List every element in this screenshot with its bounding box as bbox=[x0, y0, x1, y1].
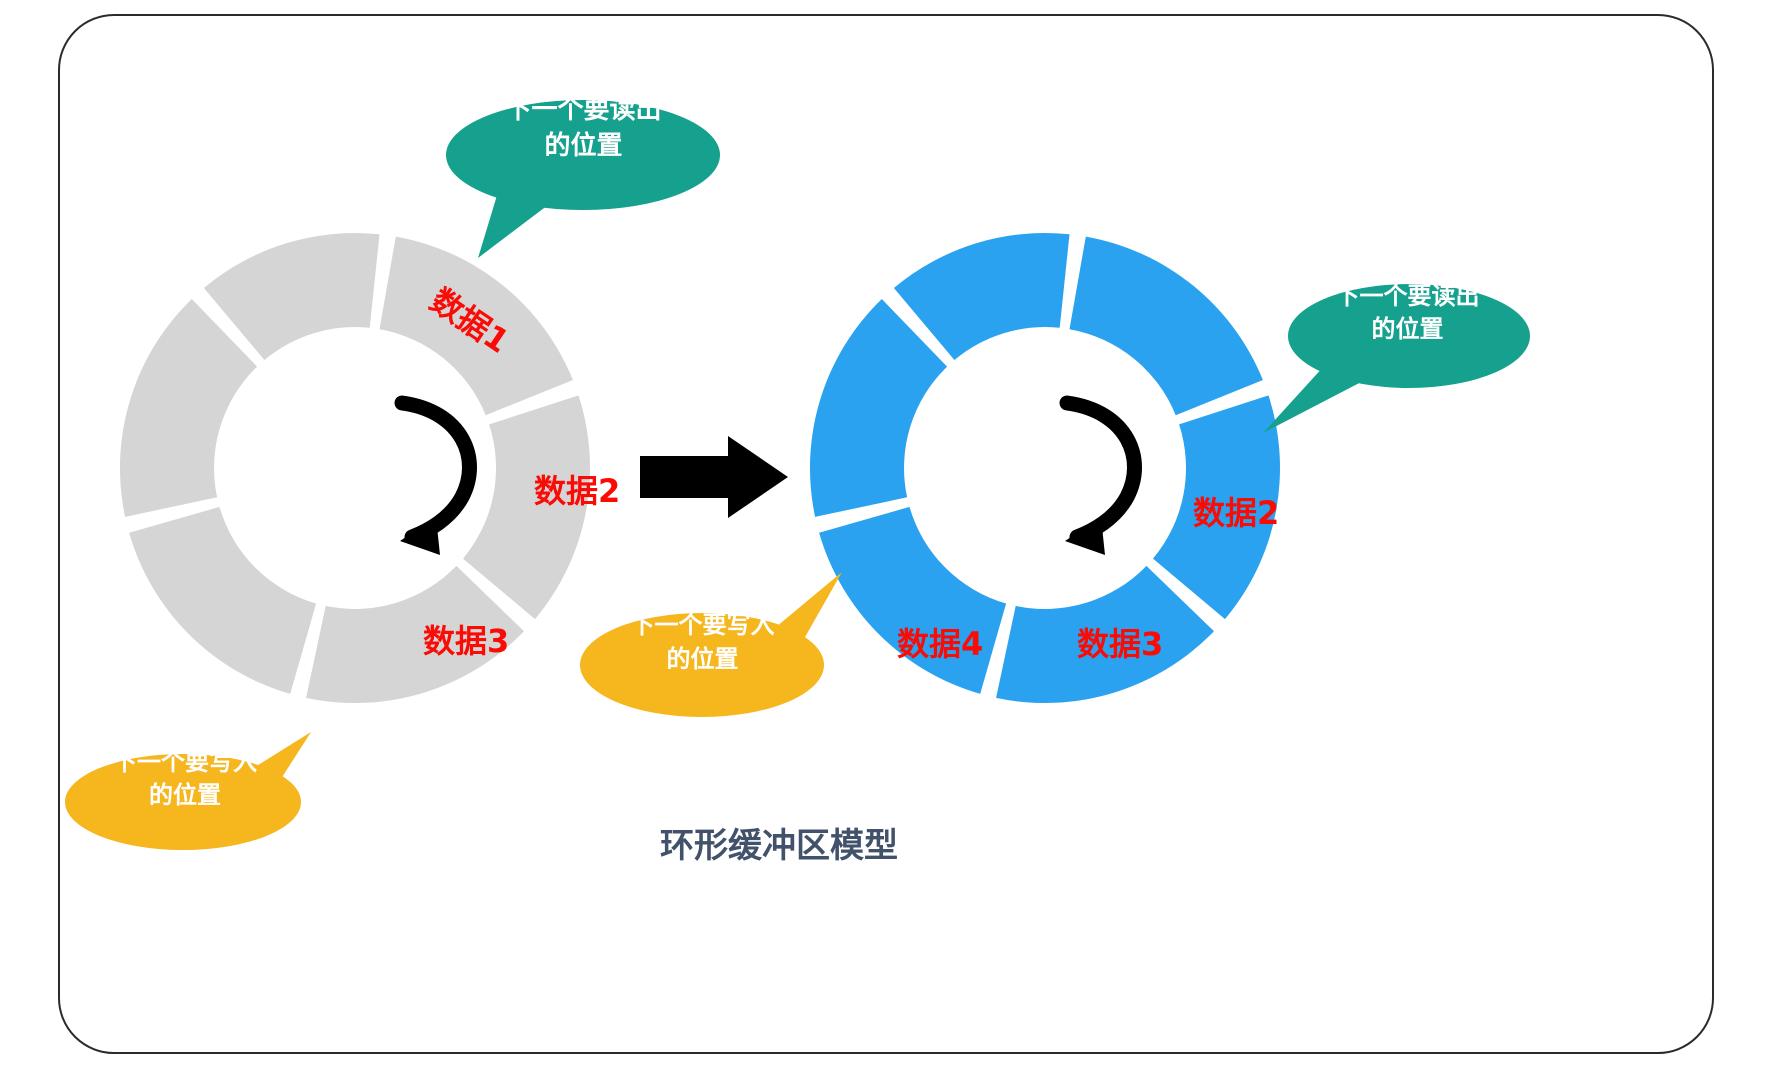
callout-line-2: 的位置 bbox=[113, 779, 257, 812]
left-ring-segment-4 bbox=[129, 507, 316, 694]
next-write-position-callout-left[interactable]: 下一个要写入 的位置 bbox=[65, 730, 305, 830]
callout-line-2: 的位置 bbox=[505, 129, 661, 165]
diagram-title: 环形缓冲区模型 bbox=[660, 818, 898, 867]
next-write-position-callout-right[interactable]: 下一个要写入 的位置 bbox=[580, 590, 825, 695]
next-read-position-callout-left[interactable]: 下一个要读出 的位置 bbox=[446, 100, 721, 210]
left-ring bbox=[120, 218, 590, 718]
next-read-position-callout-right[interactable]: 下一个要读出 的位置 bbox=[1285, 283, 1530, 388]
callout-line-1: 下一个要写入 bbox=[631, 609, 775, 642]
left-label-data3: 数据3 bbox=[423, 616, 509, 662]
right-rotation-arrow-icon bbox=[1035, 385, 1165, 565]
callout-line-1: 下一个要写入 bbox=[113, 746, 257, 779]
transition-arrow-icon bbox=[640, 432, 790, 522]
right-ring-segment-5 bbox=[810, 299, 947, 517]
right-ring-segment-4 bbox=[819, 507, 1006, 694]
right-label-data2: 数据2 bbox=[1193, 488, 1279, 534]
right-label-data4: 数据4 bbox=[897, 619, 983, 665]
callout-tail bbox=[478, 192, 552, 258]
right-label-data3: 数据3 bbox=[1077, 619, 1163, 665]
left-label-data2: 数据2 bbox=[534, 466, 620, 512]
left-rotation-arrow-icon bbox=[370, 385, 500, 565]
callout-line-1: 下一个要读出 bbox=[505, 93, 661, 129]
diagram-canvas: 数据1 数据2 数据3 数据2 数据3 数据4 下一个要读出 的位置 bbox=[0, 0, 1770, 1072]
left-ring-segment-5 bbox=[120, 299, 257, 517]
callout-line-2: 的位置 bbox=[1336, 313, 1480, 346]
callout-line-1: 下一个要读出 bbox=[1336, 280, 1480, 313]
callout-line-2: 的位置 bbox=[631, 643, 775, 676]
